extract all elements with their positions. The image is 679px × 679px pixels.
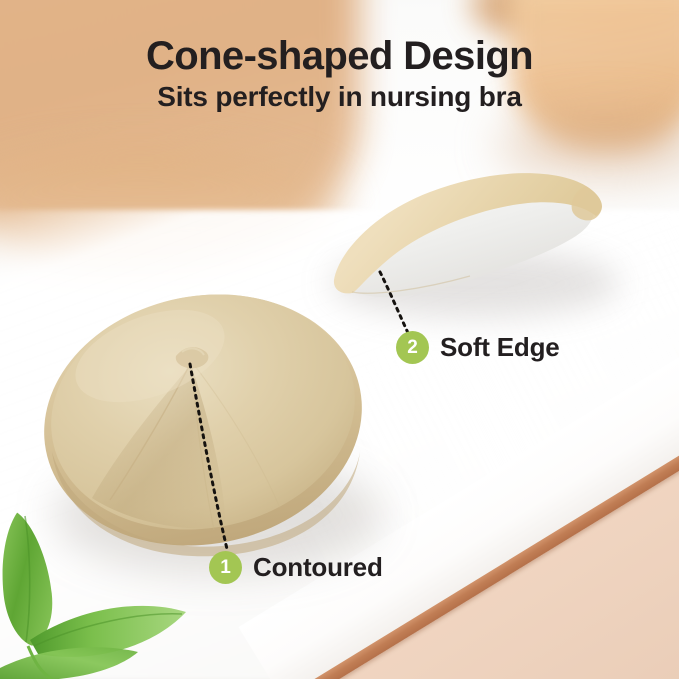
callout-contoured: 1 Contoured [209, 551, 383, 584]
callout-label-1: Contoured [253, 552, 383, 583]
callout-badge-2: 2 [396, 331, 429, 364]
callout-badge-1: 1 [209, 551, 242, 584]
cone-pad [22, 268, 383, 573]
callout-label-2: Soft Edge [440, 332, 560, 363]
page-title: Cone-shaped Design [0, 34, 679, 78]
callout-soft-edge: 2 Soft Edge [396, 331, 560, 364]
soft-edge-pad [334, 173, 602, 297]
page-subtitle: Sits perfectly in nursing bra [0, 80, 679, 114]
product-feature-image: Cone-shaped Design Sits perfectly in nur… [0, 0, 679, 679]
